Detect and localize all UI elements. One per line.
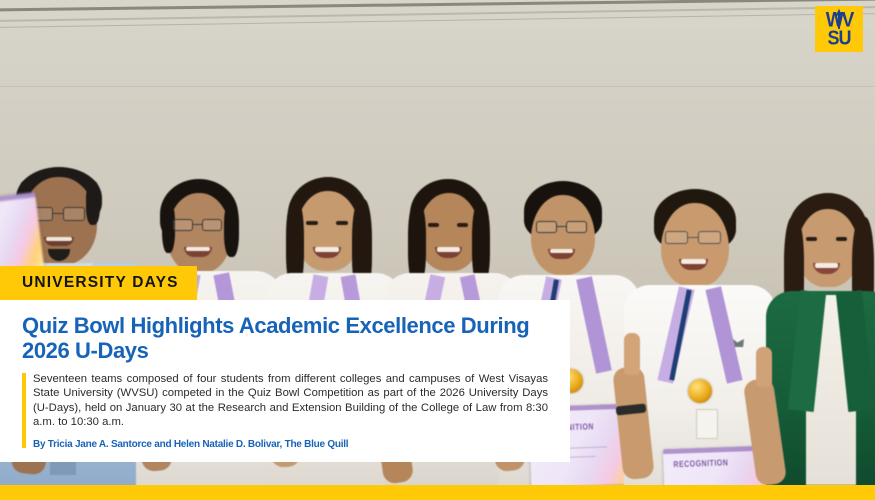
page-title: Quiz Bowl Highlights Academic Excellence… bbox=[22, 313, 548, 363]
head bbox=[797, 209, 859, 287]
mouth-teeth bbox=[46, 237, 72, 241]
wall-seam bbox=[0, 86, 875, 87]
head bbox=[167, 193, 231, 273]
person-7 bbox=[768, 155, 875, 485]
eye bbox=[306, 221, 318, 225]
mouth-teeth bbox=[681, 259, 706, 264]
eye bbox=[457, 223, 468, 227]
eye bbox=[428, 223, 439, 227]
mouth-teeth bbox=[437, 247, 460, 252]
eyeglasses-icon bbox=[172, 219, 228, 230]
mouth-teeth bbox=[815, 263, 838, 268]
index-finger-up bbox=[624, 333, 640, 375]
id-badge bbox=[696, 409, 718, 439]
accent-bar bbox=[22, 373, 26, 448]
eye bbox=[336, 221, 348, 225]
index-finger-up bbox=[756, 347, 772, 387]
article-byline: By Tricia Jane A. Santorce and Helen Nat… bbox=[33, 439, 548, 450]
article-lead: Seventeen teams composed of four student… bbox=[33, 372, 548, 430]
mouth-teeth bbox=[315, 247, 339, 252]
person-6: RECOGNITION bbox=[630, 155, 766, 485]
mouth-teeth bbox=[186, 247, 210, 251]
eyeglasses-icon bbox=[29, 207, 91, 219]
head bbox=[531, 195, 595, 275]
category-badge[interactable]: UNIVERSITY DAYS bbox=[0, 266, 197, 300]
eye bbox=[836, 237, 847, 241]
mouth-teeth bbox=[550, 249, 573, 253]
logo-line-2: SU bbox=[827, 28, 850, 48]
certificate-title: RECOGNITION bbox=[673, 459, 728, 470]
head bbox=[296, 191, 360, 271]
article-body: Seventeen teams composed of four student… bbox=[22, 372, 548, 450]
eye bbox=[806, 237, 817, 241]
article-card: Quiz Bowl Highlights Academic Excellence… bbox=[0, 300, 570, 462]
eyeglasses-icon bbox=[664, 231, 726, 243]
news-card-graphic: RECOGNITION RECOGNITION bbox=[0, 0, 875, 500]
eyeglasses-icon bbox=[535, 221, 593, 232]
medal bbox=[688, 379, 712, 403]
head bbox=[661, 203, 729, 287]
footer-bar bbox=[0, 485, 875, 500]
category-label: UNIVERSITY DAYS bbox=[22, 274, 179, 292]
head bbox=[418, 193, 480, 271]
wvsu-logo[interactable]: WV SU bbox=[815, 6, 863, 52]
